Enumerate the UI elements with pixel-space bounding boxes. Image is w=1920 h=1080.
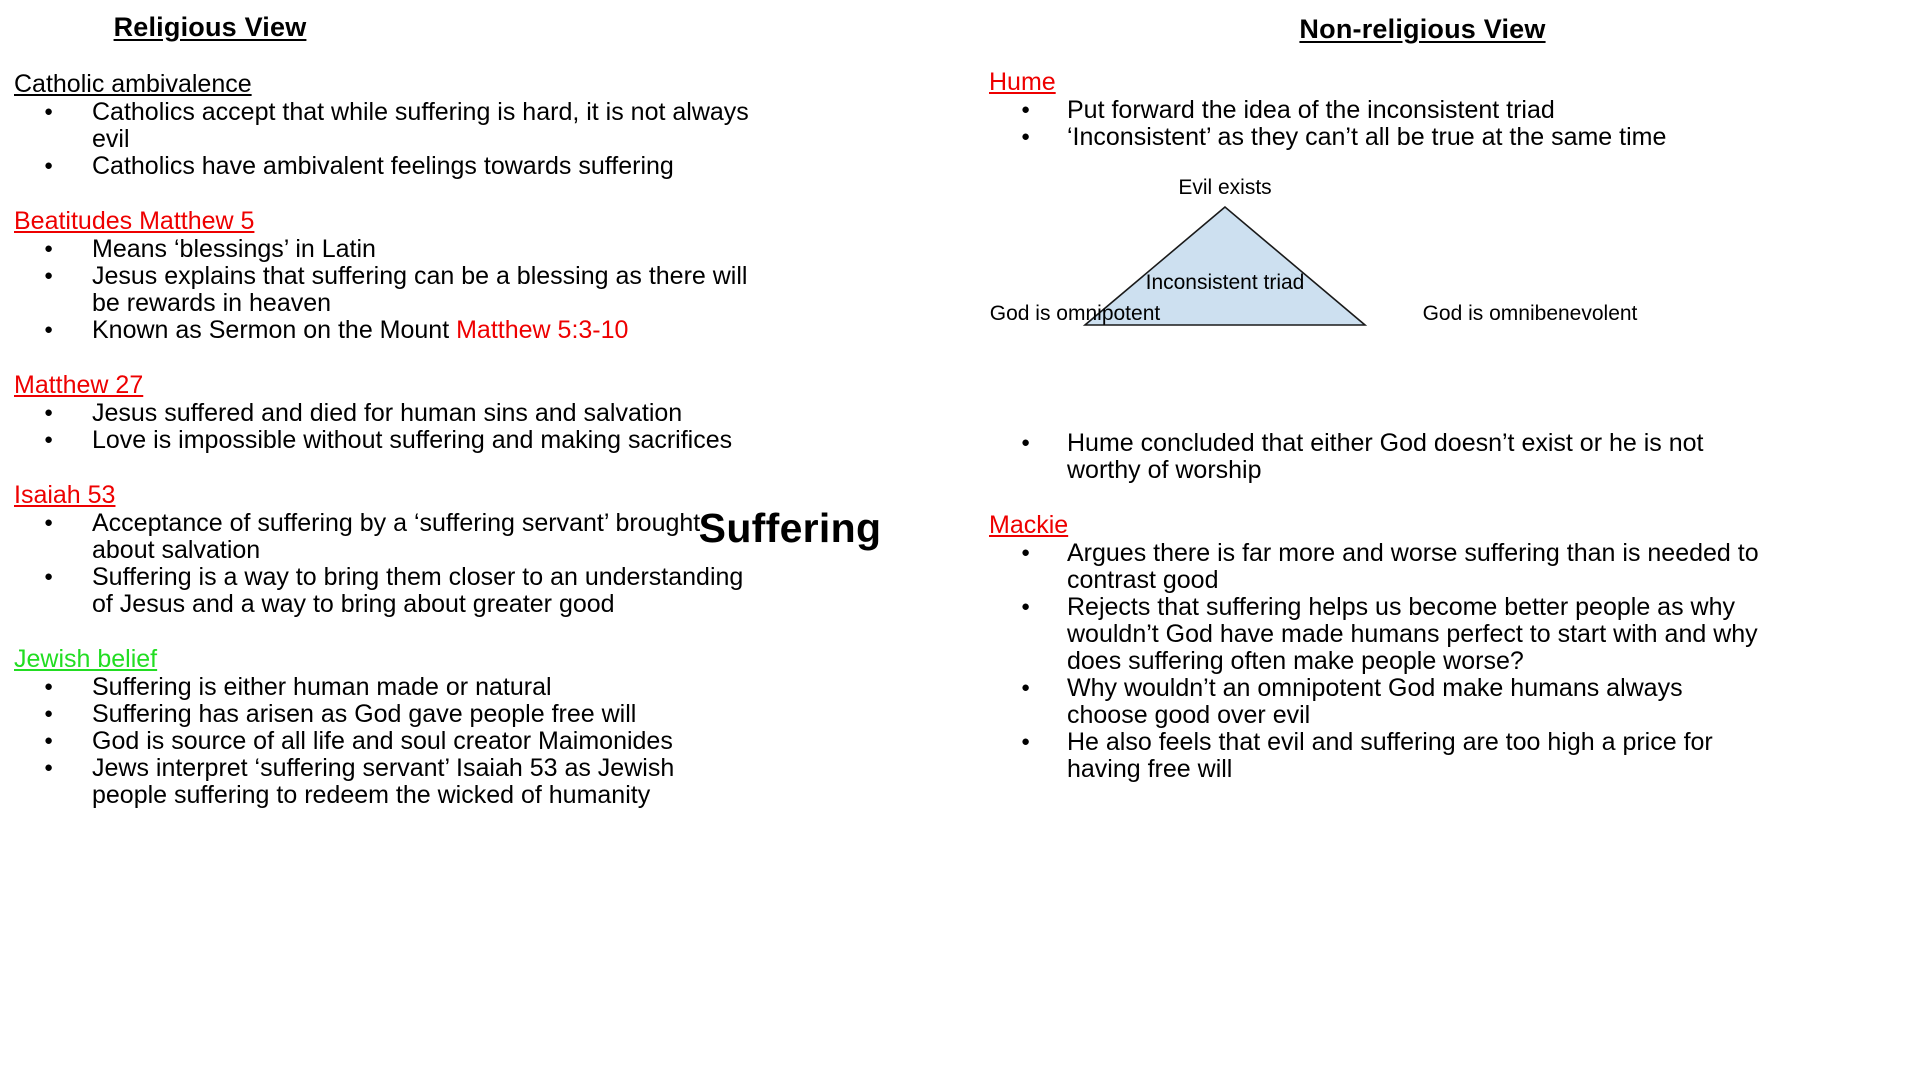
triad-label-evil-exists: Evil exists bbox=[1105, 175, 1345, 200]
section-jewish-belief: Jewish beliefSuffering is either human m… bbox=[0, 644, 790, 809]
non-religious-view-column: Non-religious View Hume Put forward the … bbox=[975, 0, 1920, 783]
triad-label-god-is-omnibenevolent: God is omnibenevolent bbox=[1405, 301, 1655, 326]
bullet-scripture-reference: Matthew 5:3-10 bbox=[456, 316, 628, 344]
section-bullet: Jesus explains that suffering can be a b… bbox=[14, 263, 752, 317]
bullet-text: Means ‘blessings’ in Latin bbox=[92, 235, 376, 263]
bullet-text: Jesus suffered and died for human sins a… bbox=[92, 399, 682, 427]
bullet-list: Catholics accept that while suffering is… bbox=[14, 99, 790, 180]
hume-conclusion-bullet: Hume concluded that either God doesn’t e… bbox=[989, 430, 1767, 484]
bullet-text: Rejects that suffering helps us become b… bbox=[1067, 593, 1758, 675]
bullet-text: Jews interpret ‘suffering servant’ Isaia… bbox=[92, 754, 674, 809]
mackie-bullet: He also feels that evil and suffering ar… bbox=[989, 729, 1767, 783]
triad-label-god-is-omnipotent: God is omnipotent bbox=[985, 301, 1165, 326]
bullet-text: Suffering has arisen as God gave people … bbox=[92, 700, 636, 728]
bullet-text: ‘Inconsistent’ as they can’t all be true… bbox=[1067, 123, 1666, 151]
triad-label-inconsistent-triad: Inconsistent triad bbox=[1120, 270, 1330, 295]
non-religious-view-sections: Hume Put forward the idea of the inconsi… bbox=[975, 67, 1920, 783]
bullet-list: Means ‘blessings’ in LatinJesus explains… bbox=[14, 236, 790, 344]
centre-topic-title: Suffering bbox=[660, 505, 920, 552]
bullet-list-mackie: Argues there is far more and worse suffe… bbox=[989, 540, 1920, 783]
section-bullet: Suffering is either human made or natura… bbox=[14, 674, 752, 701]
bullet-list-hume-after: Hume concluded that either God doesn’t e… bbox=[989, 430, 1920, 484]
mackie-bullet: Why wouldn’t an omnipotent God make huma… bbox=[989, 675, 1767, 729]
bullet-list-hume-before: Put forward the idea of the inconsistent… bbox=[989, 97, 1920, 151]
page-title-religious-view: Religious View bbox=[0, 12, 790, 43]
religious-view-column: Religious View Catholic ambivalenceCatho… bbox=[0, 0, 790, 809]
page-title-non-religious-view: Non-religious View bbox=[975, 14, 1920, 45]
section-bullet: Known as Sermon on the Mount Matthew 5:3… bbox=[14, 317, 752, 344]
section-heading: Matthew 27 bbox=[14, 370, 143, 400]
section-catholic-ambivalence: Catholic ambivalenceCatholics accept tha… bbox=[0, 69, 790, 180]
section-beatitudes-matthew-5: Beatitudes Matthew 5Means ‘blessings’ in… bbox=[0, 206, 790, 344]
bullet-text: He also feels that evil and suffering ar… bbox=[1067, 728, 1713, 783]
section-bullet: Means ‘blessings’ in Latin bbox=[14, 236, 752, 263]
bullet-text: Suffering is either human made or natura… bbox=[92, 673, 552, 701]
section-heading: Beatitudes Matthew 5 bbox=[14, 206, 254, 236]
section-bullet: Jesus suffered and died for human sins a… bbox=[14, 400, 752, 427]
bullet-text: Catholics accept that while suffering is… bbox=[92, 98, 749, 153]
section-heading: Catholic ambivalence bbox=[14, 69, 252, 99]
section-bullet: God is source of all life and soul creat… bbox=[14, 728, 752, 755]
triangle-shape bbox=[975, 165, 1905, 430]
bullet-text: Catholics have ambivalent feelings towar… bbox=[92, 152, 674, 180]
bullet-text: Acceptance of suffering by a ‘suffering … bbox=[92, 509, 700, 564]
mackie-bullet: Argues there is far more and worse suffe… bbox=[989, 540, 1767, 594]
bullet-text: Known as Sermon on the Mount bbox=[92, 316, 456, 344]
section-bullet: Catholics have ambivalent feelings towar… bbox=[14, 153, 752, 180]
section-matthew-27: Matthew 27Jesus suffered and died for hu… bbox=[0, 370, 790, 454]
religious-view-sections: Catholic ambivalenceCatholics accept tha… bbox=[0, 69, 790, 809]
bullet-text: Love is impossible without suffering and… bbox=[92, 426, 732, 454]
bullet-text: Jesus explains that suffering can be a b… bbox=[92, 262, 747, 317]
inconsistent-triad-diagram: Evil exists Inconsistent triad God is om… bbox=[975, 165, 1905, 430]
bullet-list: Suffering is either human made or natura… bbox=[14, 674, 790, 809]
bullet-text: Suffering is a way to bring them closer … bbox=[92, 563, 743, 618]
bullet-text: Hume concluded that either God doesn’t e… bbox=[1067, 429, 1703, 484]
bullet-text: Why wouldn’t an omnipotent God make huma… bbox=[1067, 674, 1683, 729]
section-bullet: Acceptance of suffering by a ‘suffering … bbox=[14, 510, 752, 564]
section-heading: Jewish belief bbox=[14, 644, 157, 674]
hume-bullet: Put forward the idea of the inconsistent… bbox=[989, 97, 1767, 124]
bullet-text: God is source of all life and soul creat… bbox=[92, 727, 673, 755]
section-mackie: Mackie Argues there is far more and wors… bbox=[975, 510, 1920, 783]
section-bullet: Suffering has arisen as God gave people … bbox=[14, 701, 752, 728]
bullet-text: Put forward the idea of the inconsistent… bbox=[1067, 96, 1555, 124]
section-hume-conclusion: Hume concluded that either God doesn’t e… bbox=[975, 430, 1920, 484]
section-bullet: Catholics accept that while suffering is… bbox=[14, 99, 752, 153]
section-heading: Isaiah 53 bbox=[14, 480, 115, 510]
mackie-bullet: Rejects that suffering helps us become b… bbox=[989, 594, 1767, 675]
section-hume: Hume Put forward the idea of the inconsi… bbox=[975, 67, 1920, 151]
bullet-text: Argues there is far more and worse suffe… bbox=[1067, 539, 1759, 594]
section-bullet: Love is impossible without suffering and… bbox=[14, 427, 752, 454]
section-heading-mackie: Mackie bbox=[989, 510, 1068, 540]
hume-bullet: ‘Inconsistent’ as they can’t all be true… bbox=[989, 124, 1767, 151]
section-heading-hume: Hume bbox=[989, 67, 1056, 97]
section-bullet: Jews interpret ‘suffering servant’ Isaia… bbox=[14, 755, 752, 809]
bullet-list: Jesus suffered and died for human sins a… bbox=[14, 400, 790, 454]
section-bullet: Suffering is a way to bring them closer … bbox=[14, 564, 752, 618]
